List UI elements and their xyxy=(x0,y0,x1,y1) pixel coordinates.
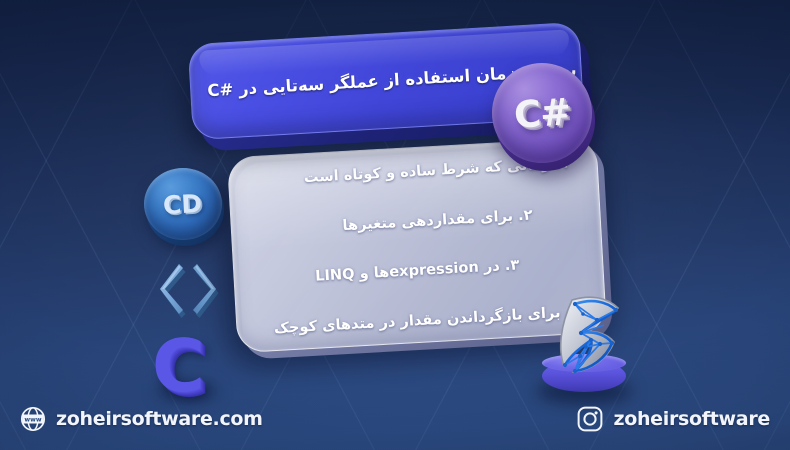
list-item: ۳. در expressionها و LINQ xyxy=(255,253,577,288)
banner-canvas: CD xyxy=(0,0,790,450)
code-brackets-icon xyxy=(152,258,224,320)
csharp-badge-label: C# xyxy=(512,90,571,137)
cd-badge-face: CD xyxy=(144,168,222,240)
csharp-badge-face: C# xyxy=(492,63,592,163)
website-brand[interactable]: www zoheirsoftware.com xyxy=(20,406,263,432)
cd-badge-label: CD xyxy=(163,188,204,219)
cd-badge-icon: CD xyxy=(144,168,230,248)
csharp-badge: C# xyxy=(492,63,598,169)
instagram-label: zoheirsoftware xyxy=(613,408,770,430)
instagram-icon xyxy=(577,406,603,432)
globe-www-icon: www xyxy=(20,406,46,432)
svg-text:www: www xyxy=(24,416,41,423)
website-label: zoheirsoftware.com xyxy=(56,408,263,430)
footer-branding: www zoheirsoftware.com zoheirsoftware xyxy=(0,390,790,450)
list-item: ۲. برای مقداردهی متغیرها xyxy=(252,204,574,239)
instagram-brand[interactable]: zoheirsoftware xyxy=(577,406,770,432)
